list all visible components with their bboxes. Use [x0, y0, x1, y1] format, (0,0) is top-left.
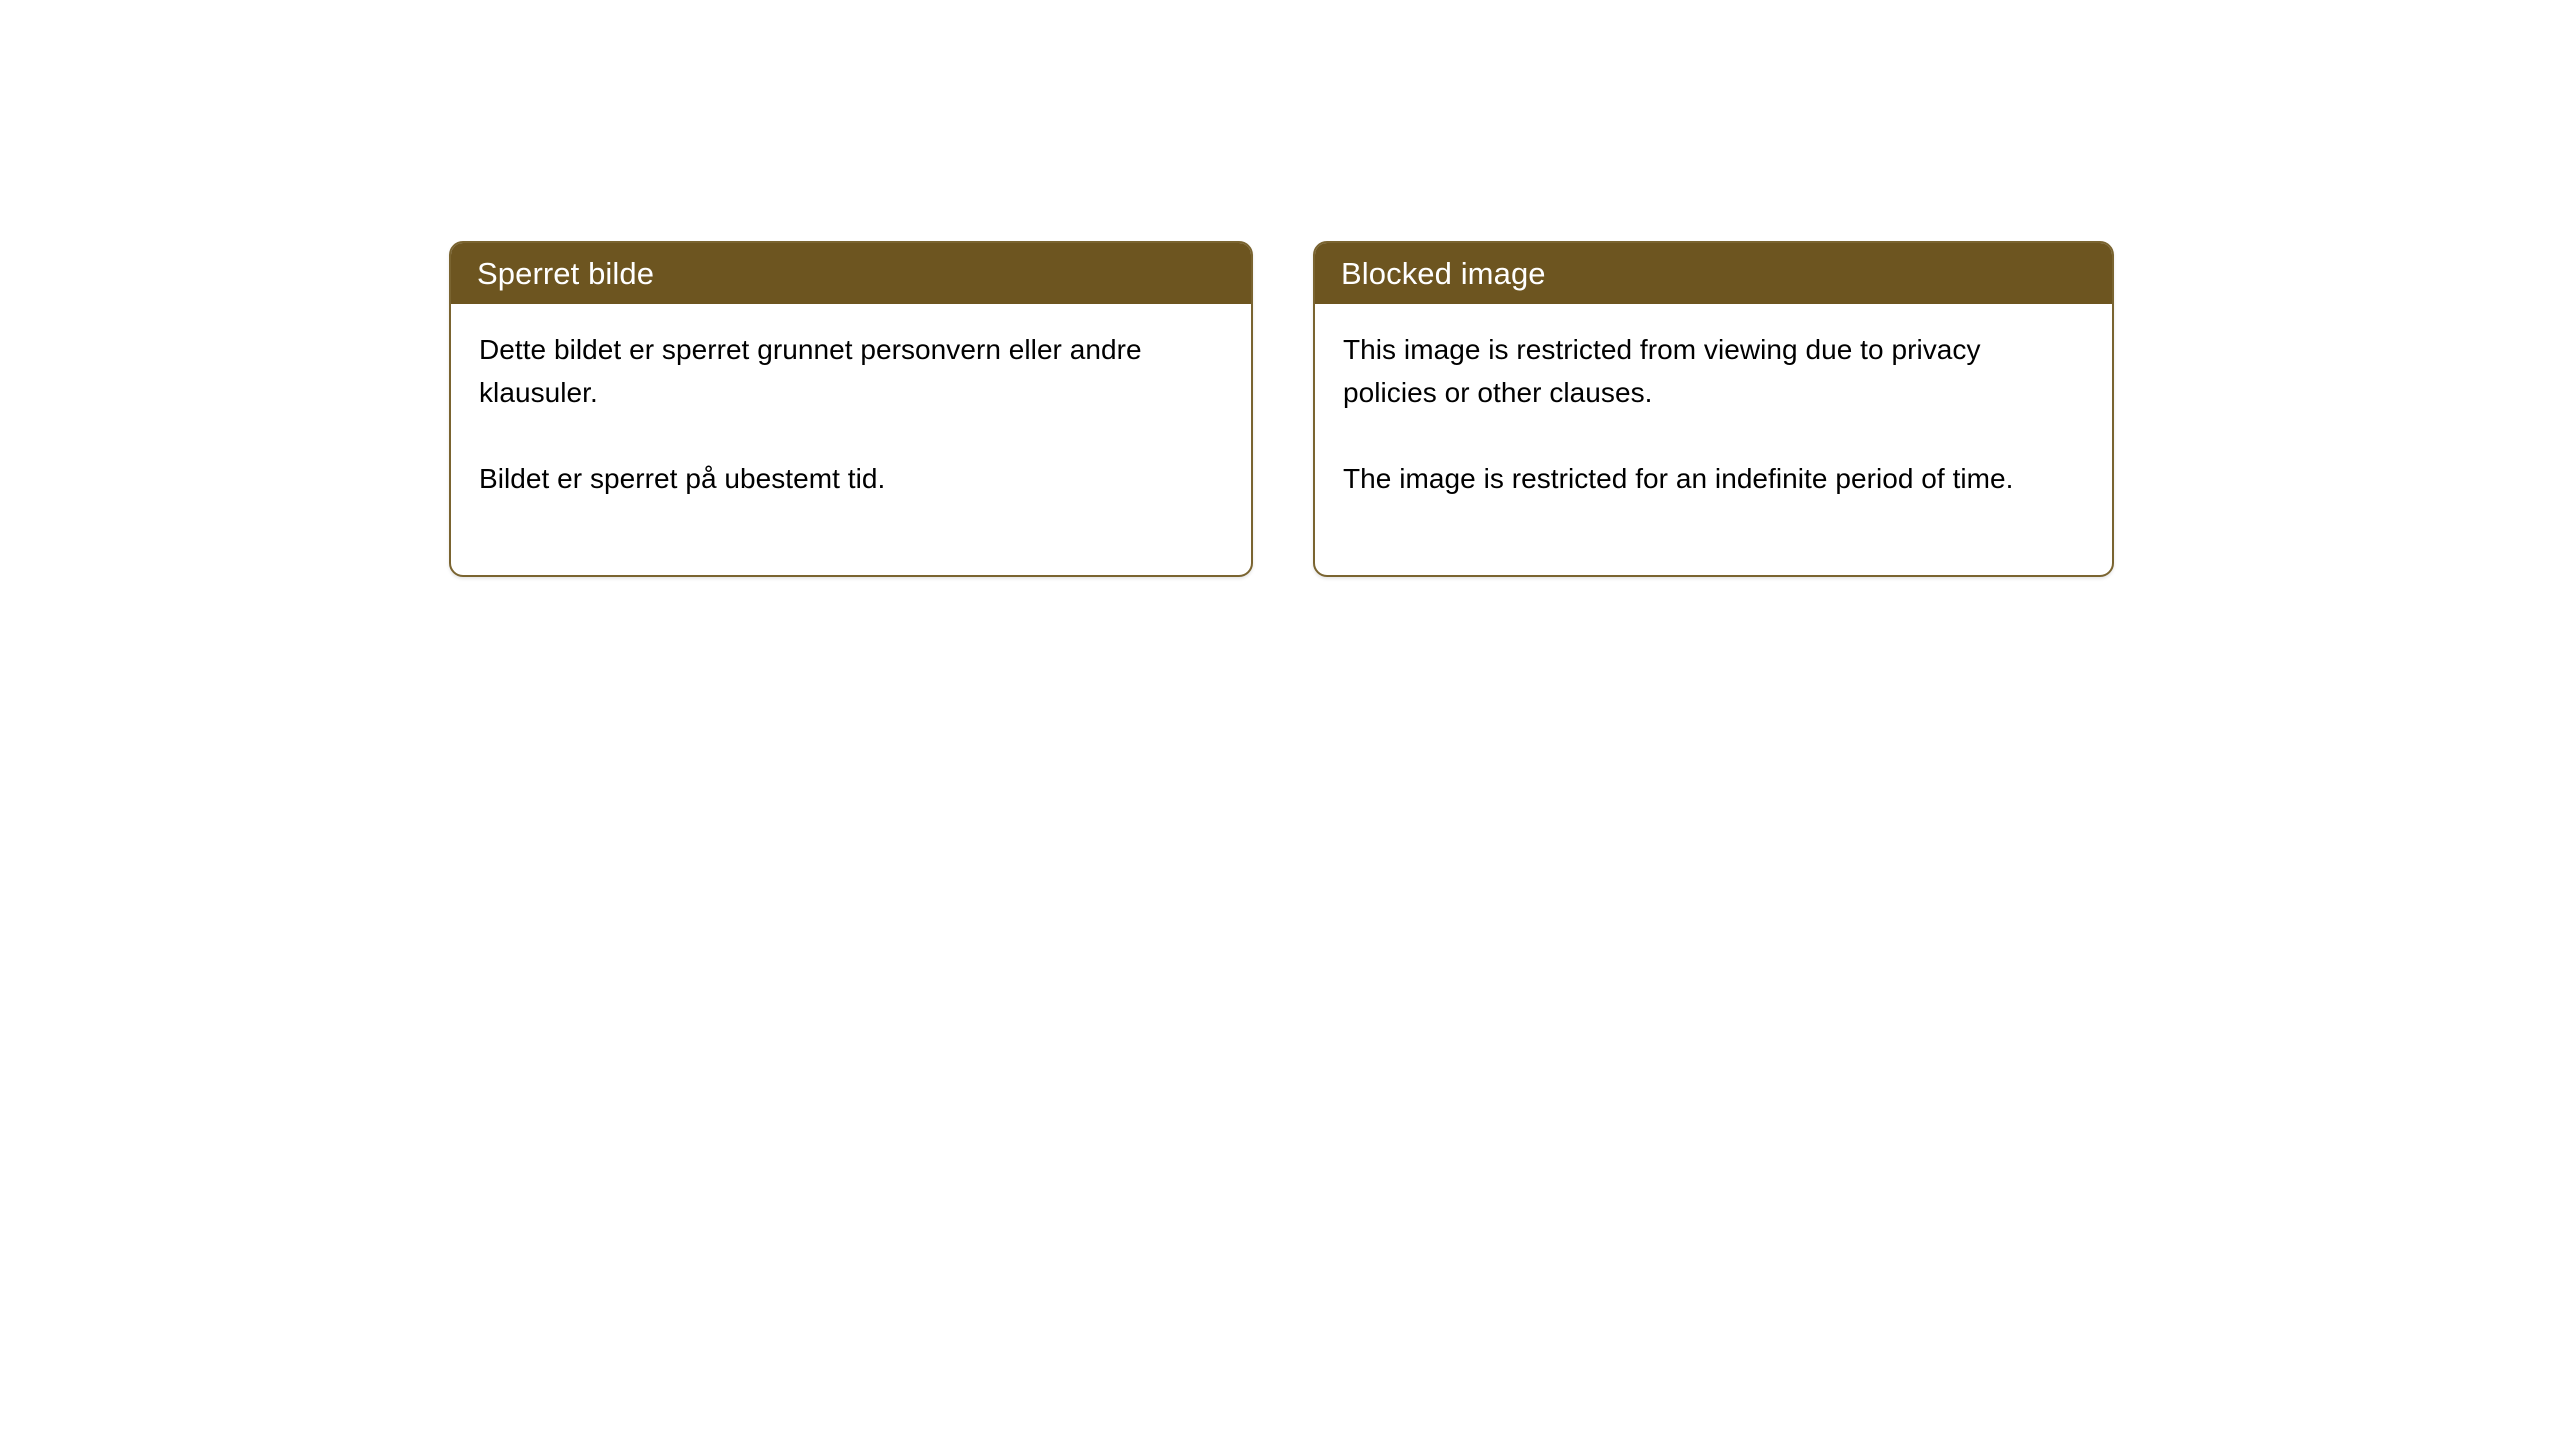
page-root: Sperret bilde Dette bildet er sperret gr… [0, 0, 2560, 1440]
card-paragraph-secondary-english: The image is restricted for an indefinit… [1343, 457, 2043, 500]
card-header-norwegian: Sperret bilde [451, 243, 1251, 304]
card-title-norwegian: Sperret bilde [477, 258, 654, 289]
card-paragraph-secondary-norwegian: Bildet er sperret på ubestemt tid. [479, 457, 1179, 500]
card-paragraph-primary-norwegian: Dette bildet er sperret grunnet personve… [479, 328, 1179, 414]
card-body-norwegian: Dette bildet er sperret grunnet personve… [451, 304, 1251, 500]
card-header-english: Blocked image [1315, 243, 2112, 304]
blocked-image-notice-norwegian: Sperret bilde Dette bildet er sperret gr… [449, 241, 1253, 577]
card-title-english: Blocked image [1341, 258, 1546, 289]
card-body-english: This image is restricted from viewing du… [1315, 304, 2112, 500]
card-paragraph-primary-english: This image is restricted from viewing du… [1343, 328, 2043, 414]
blocked-image-notice-english: Blocked image This image is restricted f… [1313, 241, 2114, 577]
